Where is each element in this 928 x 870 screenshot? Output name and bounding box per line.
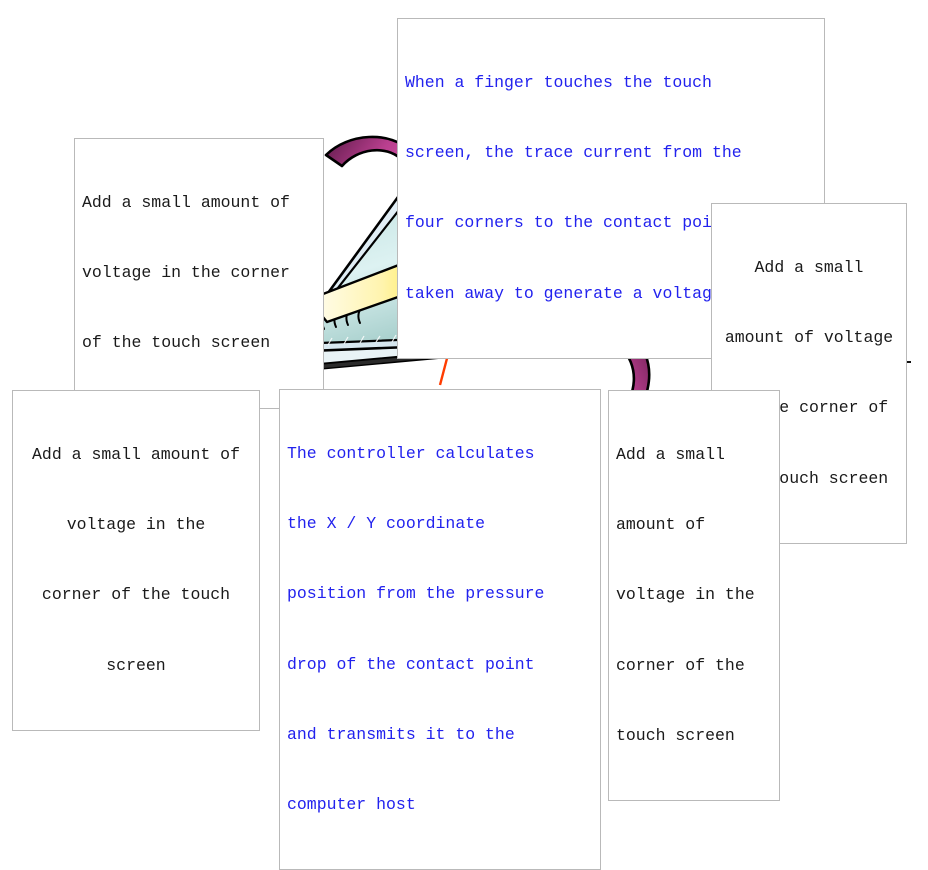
- callout-line: screen: [20, 654, 252, 677]
- callout-line: screen, the trace current from the: [405, 141, 817, 164]
- callout-line: voltage in the: [20, 513, 252, 536]
- callout-line: the X / Y coordinate: [287, 512, 593, 535]
- callout-line: corner of the touch: [20, 583, 252, 606]
- callout-line: When a finger touches the touch: [405, 71, 817, 94]
- callout-line: touch screen: [616, 724, 772, 747]
- callout-line: of the touch screen: [82, 331, 316, 354]
- callout-line: amount of voltage: [719, 326, 899, 349]
- callout-controller-description: The controller calculates the X / Y coor…: [279, 389, 601, 870]
- callout-line: voltage in the corner: [82, 261, 316, 284]
- callout-line: Add a small amount of: [82, 191, 316, 214]
- callout-line: corner of the: [616, 654, 772, 677]
- callout-line: computer host: [287, 793, 593, 816]
- callout-line: Add a small: [616, 443, 772, 466]
- callout-line: amount of: [616, 513, 772, 536]
- callout-voltage-corner-bottom-right: Add a small amount of voltage in the cor…: [608, 390, 780, 801]
- callout-line: position from the pressure: [287, 582, 593, 605]
- callout-line: Add a small: [719, 256, 899, 279]
- callout-line: drop of the contact point: [287, 653, 593, 676]
- callout-voltage-corner-bottom-left: Add a small amount of voltage in the cor…: [12, 390, 260, 731]
- callout-line: and transmits it to the: [287, 723, 593, 746]
- callout-line: Add a small amount of: [20, 443, 252, 466]
- diagram-canvas: I1 I2 I3 I4 When a finger touches the to…: [0, 0, 928, 560]
- callout-line: voltage in the: [616, 583, 772, 606]
- callout-line: The controller calculates: [287, 442, 593, 465]
- callout-voltage-corner-top-left: Add a small amount of voltage in the cor…: [74, 138, 324, 409]
